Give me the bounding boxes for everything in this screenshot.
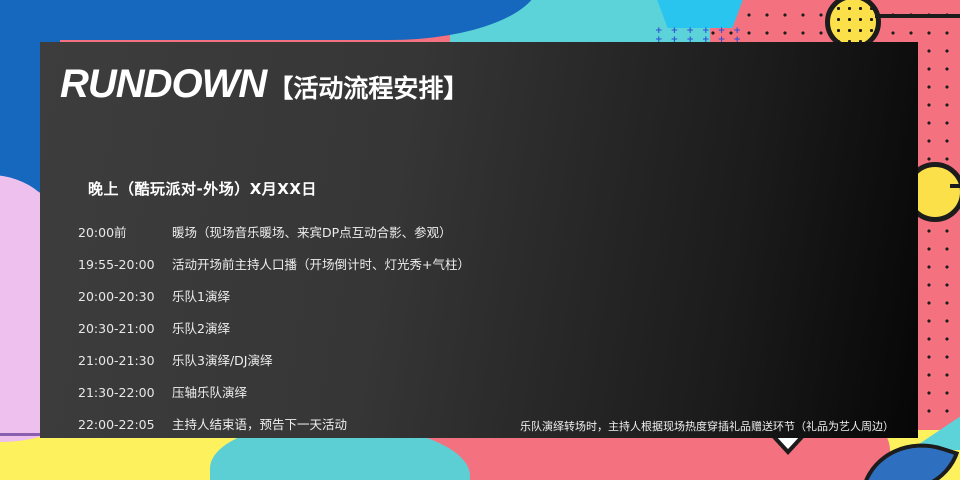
- schedule-time: 21:30-22:00: [78, 385, 160, 400]
- slide-canvas: + + + + + + + + + + + + + + + + RUNDOWN …: [0, 0, 960, 480]
- schedule-time: 20:00前: [78, 222, 160, 241]
- schedule-desc: 压轴乐队演绎: [160, 382, 247, 401]
- cyan-trapezoid-shape: [655, 0, 745, 28]
- schedule-time: 21:00-21:30: [78, 353, 160, 368]
- schedule-desc: 暖场（现场音乐暖场、来宾DP点互动合影、参观）: [160, 222, 452, 241]
- schedule-desc: 乐队1演绎: [160, 286, 230, 305]
- schedule-time: 22:00-22:05: [78, 417, 160, 432]
- content-panel: RUNDOWN 【活动流程安排】 晚上（酷玩派对-外场）X月XX日 20:00前…: [40, 42, 918, 438]
- schedule-desc: 乐队3演绎/DJ演绎: [160, 350, 272, 369]
- horizontal-rule-top: [875, 14, 960, 18]
- section-label: 晚上（酷玩派对-外场）X月XX日: [88, 178, 317, 199]
- horizontal-rule-right: [950, 184, 960, 188]
- schedule-time: 20:00-20:30: [78, 289, 160, 304]
- schedule-list: 20:00前 暖场（现场音乐暖场、来宾DP点互动合影、参观） 19:55-20:…: [78, 222, 898, 446]
- footnote-text: 乐队演绎转场时，主持人根据现场热度穿插礼品赠送环节（礼品为艺人周边）: [520, 418, 894, 434]
- schedule-row: 21:00-21:30 乐队3演绎/DJ演绎: [78, 350, 898, 382]
- schedule-time: 20:30-21:00: [78, 321, 160, 336]
- schedule-row: 20:00前 暖场（现场音乐暖场、来宾DP点互动合影、参观）: [78, 222, 898, 254]
- schedule-desc: 乐队2演绎: [160, 318, 230, 337]
- schedule-row: 19:55-20:00 活动开场前主持人口播（开场倒计时、灯光秀+气柱）: [78, 254, 898, 286]
- title-sub-text: 【活动流程安排】: [268, 69, 468, 105]
- schedule-row: 21:30-22:00 压轴乐队演绎: [78, 382, 898, 414]
- schedule-desc: 活动开场前主持人口播（开场倒计时、灯光秀+气柱）: [160, 254, 470, 273]
- schedule-time: 19:55-20:00: [78, 257, 160, 272]
- title-main-text: RUNDOWN: [60, 62, 266, 107]
- schedule-row: 20:00-20:30 乐队1演绎: [78, 286, 898, 318]
- schedule-desc: 主持人结束语，预告下一天活动: [160, 414, 347, 433]
- schedule-row: 20:30-21:00 乐队2演绎: [78, 318, 898, 350]
- page-title: RUNDOWN 【活动流程安排】: [60, 62, 468, 107]
